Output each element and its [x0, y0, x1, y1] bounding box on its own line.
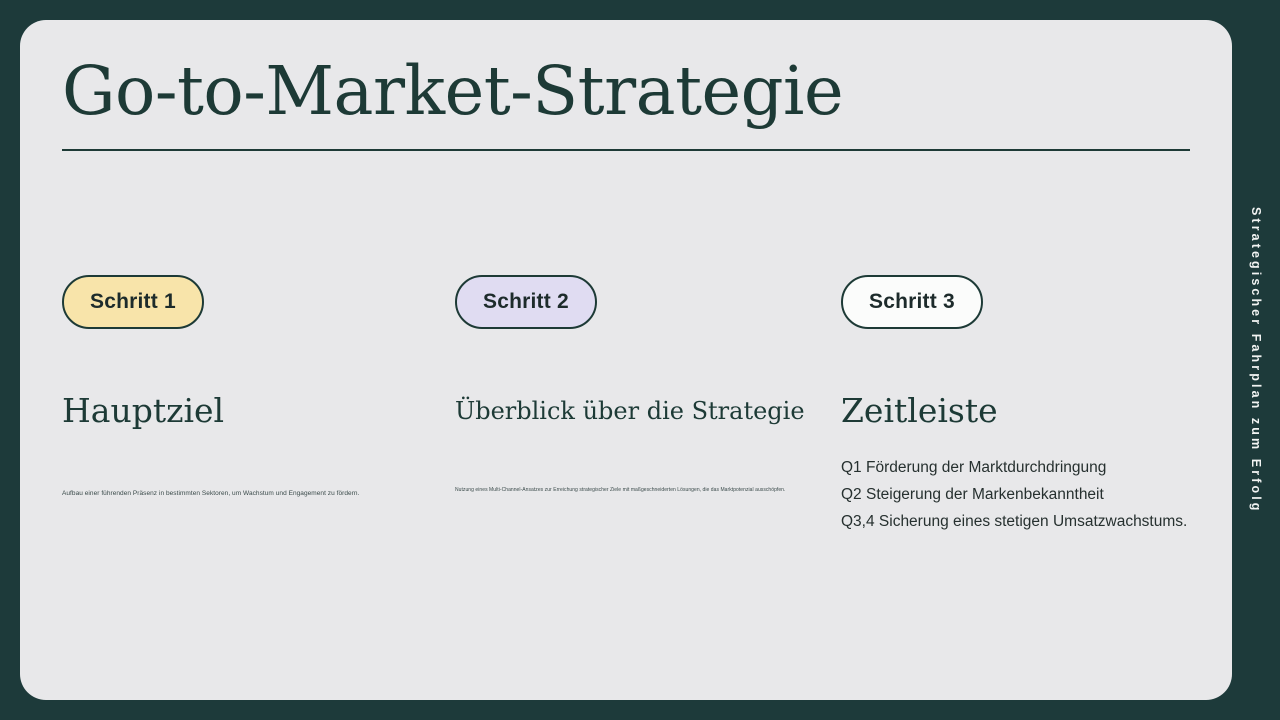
step-badge-2-label: Schritt 2 [483, 290, 569, 314]
column-step-2: Schritt 2 Überblick über die Strategie N… [455, 275, 841, 495]
columns-container: Schritt 1 Hauptziel Aufbau einer führend… [62, 275, 1202, 535]
column-3-heading: Zeitleiste [841, 391, 1202, 430]
list-item: Q1 Förderung der Marktdurchdringung [841, 454, 1202, 481]
side-label: Strategischer Fahrplan zum Erfolg [1232, 0, 1280, 720]
column-2-body: Nutzung eines Multi-Channel-Ansatzes zur… [455, 487, 823, 495]
title-divider [62, 149, 1190, 151]
side-label-text: Strategischer Fahrplan zum Erfolg [1249, 207, 1263, 514]
step-badge-3-label: Schritt 3 [869, 290, 955, 314]
slide-root: Go-to-Market-Strategie Schritt 1 Hauptzi… [0, 0, 1280, 720]
list-item: Q2 Steigerung der Markenbekanntheit [841, 481, 1202, 508]
column-1-body: Aufbau einer führenden Präsenz in bestim… [62, 489, 437, 499]
column-step-1: Schritt 1 Hauptziel Aufbau einer führend… [62, 275, 455, 499]
step-badge-1[interactable]: Schritt 1 [62, 275, 204, 329]
title-block: Go-to-Market-Strategie [62, 55, 1192, 151]
step-badge-3[interactable]: Schritt 3 [841, 275, 983, 329]
timeline-list: Q1 Förderung der Marktdurchdringung Q2 S… [841, 454, 1202, 535]
step-badge-2[interactable]: Schritt 2 [455, 275, 597, 329]
column-2-heading: Überblick über die Strategie [455, 397, 823, 425]
column-step-3: Schritt 3 Zeitleiste Q1 Förderung der Ma… [841, 275, 1202, 535]
slide-card: Go-to-Market-Strategie Schritt 1 Hauptzi… [20, 20, 1232, 700]
step-badge-1-label: Schritt 1 [90, 290, 176, 314]
list-item: Q3,4 Sicherung eines stetigen Umsatzwach… [841, 508, 1202, 535]
page-title: Go-to-Market-Strategie [62, 55, 1192, 127]
column-1-heading: Hauptziel [62, 391, 437, 430]
